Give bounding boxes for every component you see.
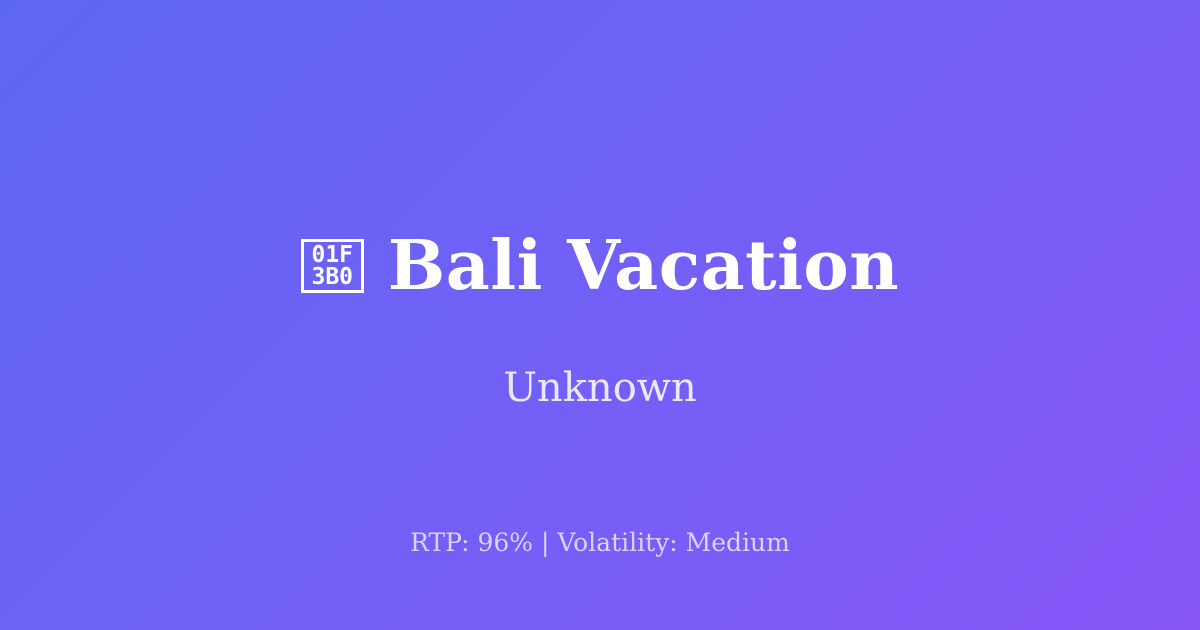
game-stats-line: RTP: 96% | Volatility: Medium [0,528,1200,558]
slot-machine-emoji-missing-glyph-icon: 01F 3B0 [301,239,364,293]
game-og-card: 01F 3B0 Bali Vacation Unknown RTP: 96% |… [0,0,1200,630]
tofu-codepoint-top: 01F [311,244,353,266]
tofu-codepoint-bottom: 3B0 [311,266,353,288]
game-provider: Unknown [0,364,1200,412]
title-row: 01F 3B0 Bali Vacation [0,232,1200,300]
game-title: Bali Vacation [388,232,899,300]
